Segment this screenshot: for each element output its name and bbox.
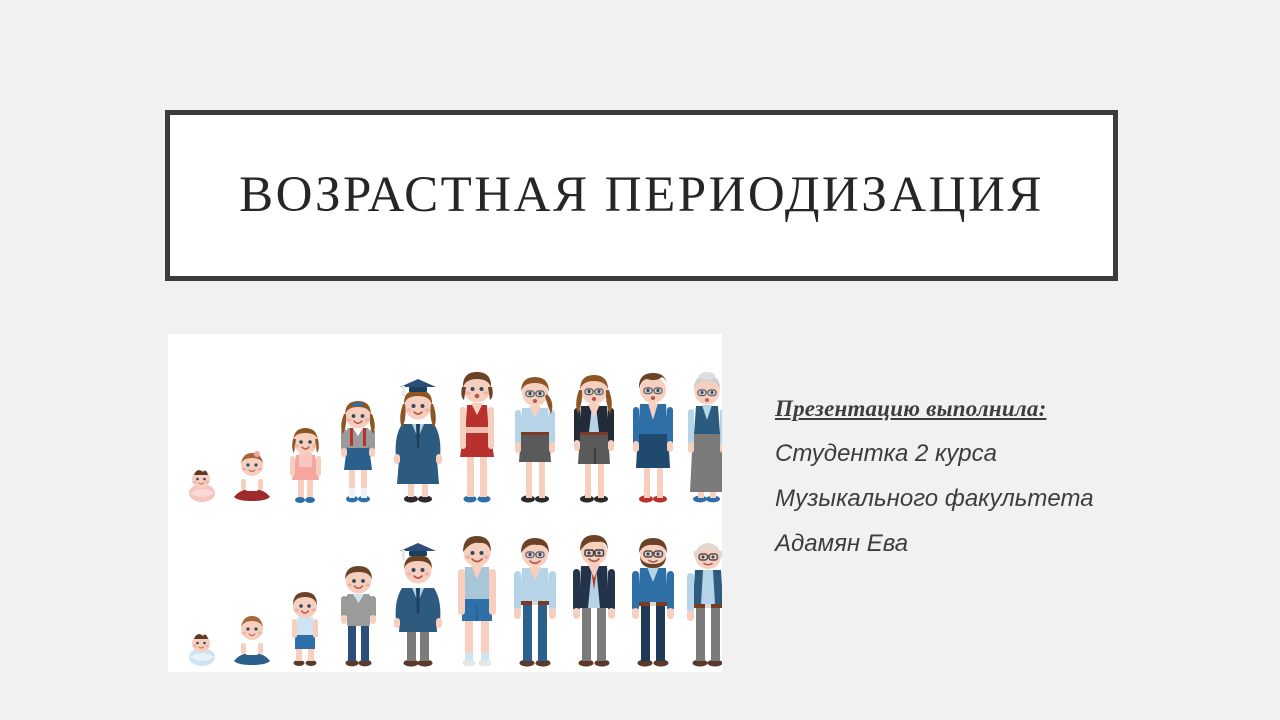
female-life-stages-row	[168, 340, 722, 503]
author-line-name: Адамян Ева	[775, 521, 1215, 566]
male-life-stages-row	[168, 504, 722, 667]
figure-young-man-tanktop	[452, 531, 502, 667]
author-line-faculty: Музыкального факультета	[775, 476, 1215, 521]
figure-graduate-man	[390, 542, 446, 667]
figure-young-woman-red-dress	[452, 367, 502, 503]
figure-mature-woman	[626, 370, 680, 503]
presentation-slide: ВОЗРАСТНАЯ ПЕРИОДИЗАЦИЯ Презентацию выпо…	[0, 0, 1280, 720]
figure-little-girl	[284, 425, 326, 503]
figure-business-man-suit	[567, 532, 621, 667]
figure-toddler-girl	[230, 449, 274, 503]
figure-business-woman	[567, 370, 621, 503]
figure-professional-woman	[509, 372, 561, 503]
life-stages-illustration	[168, 334, 722, 672]
figure-elderly-man-cane	[682, 536, 722, 667]
figure-schoolgirl	[334, 398, 382, 503]
author-heading: Презентацию выполнила:	[775, 386, 1215, 431]
figure-little-boy	[284, 589, 326, 667]
figure-schoolboy	[334, 562, 382, 667]
page-title: ВОЗРАСТНАЯ ПЕРИОДИЗАЦИЯ	[239, 170, 1044, 221]
figure-newborn-girl	[182, 463, 222, 503]
figure-bearded-man-sweater	[626, 534, 680, 667]
title-box: ВОЗРАСТНАЯ ПЕРИОДИЗАЦИЯ	[165, 110, 1118, 281]
author-line-course: Студентка 2 курса	[775, 431, 1215, 476]
figure-toddler-boy	[230, 613, 274, 667]
figure-graduate-woman	[390, 378, 446, 503]
author-text-block: Презентацию выполнила: Студентка 2 курса…	[775, 386, 1215, 566]
figure-elderly-woman-cane	[682, 372, 722, 503]
figure-newborn-boy	[182, 627, 222, 667]
figure-man-blue-shirt	[509, 534, 561, 667]
